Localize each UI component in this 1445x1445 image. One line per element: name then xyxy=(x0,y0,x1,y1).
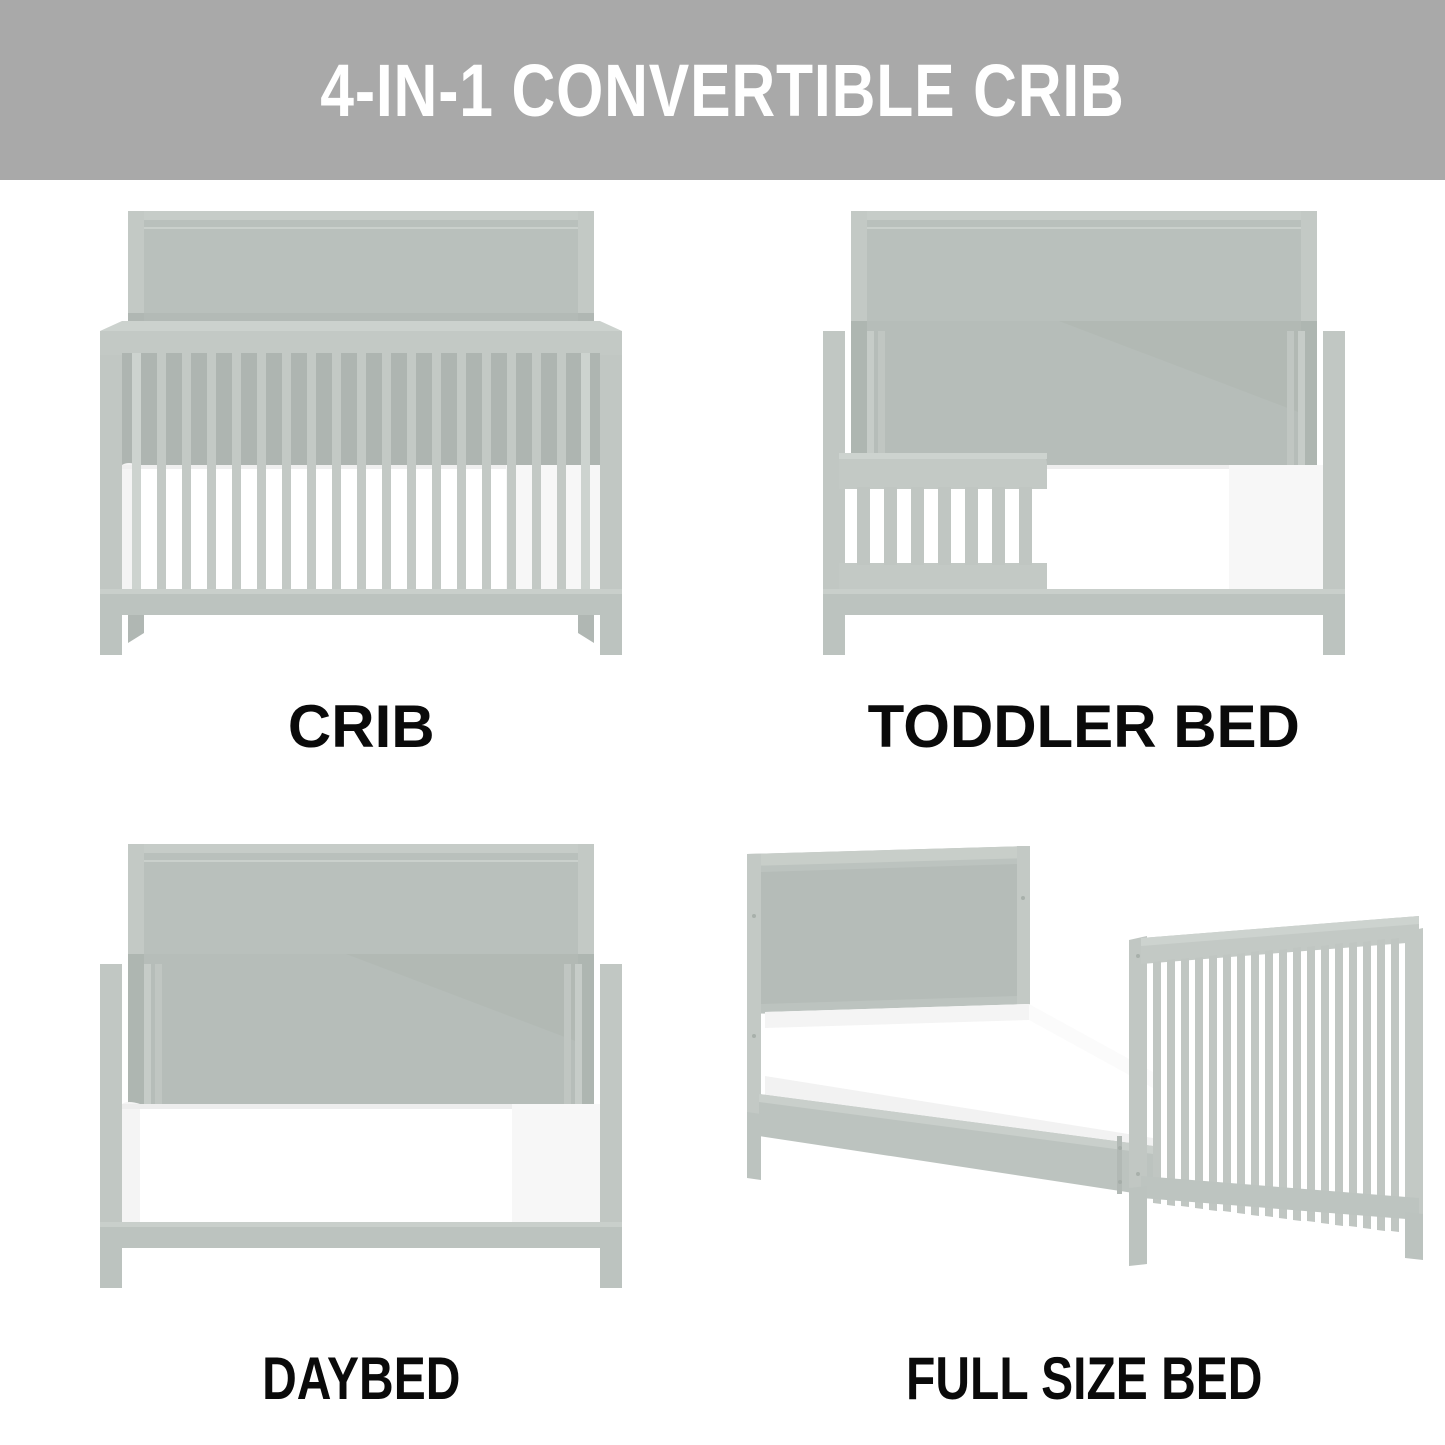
product-cell-full-size-bed: FULL SIZE BED xyxy=(723,813,1445,1445)
daybed-illustration xyxy=(0,831,723,1291)
product-cell-daybed: DAYBED xyxy=(0,813,723,1445)
crib-svg xyxy=(76,203,646,658)
daybed-svg xyxy=(76,836,646,1291)
toddler-bed-svg xyxy=(799,203,1369,658)
product-configuration-grid: CRIB xyxy=(0,180,1445,1445)
product-cell-crib: CRIB xyxy=(0,180,723,813)
toddler-bed-illustration xyxy=(723,198,1445,658)
full-size-bed-svg xyxy=(729,836,1439,1291)
caption-toddler-bed: TODDLER BED xyxy=(723,697,1445,757)
full-size-bed-illustration xyxy=(723,831,1445,1291)
caption-full-size-bed: FULL SIZE BED xyxy=(795,1349,1373,1409)
bed-footboard xyxy=(1129,916,1423,1266)
caption-daybed: DAYBED xyxy=(72,1349,650,1409)
caption-crib: CRIB xyxy=(0,697,723,757)
product-cell-toddler-bed: TODDLER BED xyxy=(723,180,1445,813)
page-title: 4-IN-1 CONVERTIBLE CRIB xyxy=(320,48,1124,133)
crib-illustration xyxy=(0,198,723,658)
header-banner: 4-IN-1 CONVERTIBLE CRIB xyxy=(0,0,1445,180)
